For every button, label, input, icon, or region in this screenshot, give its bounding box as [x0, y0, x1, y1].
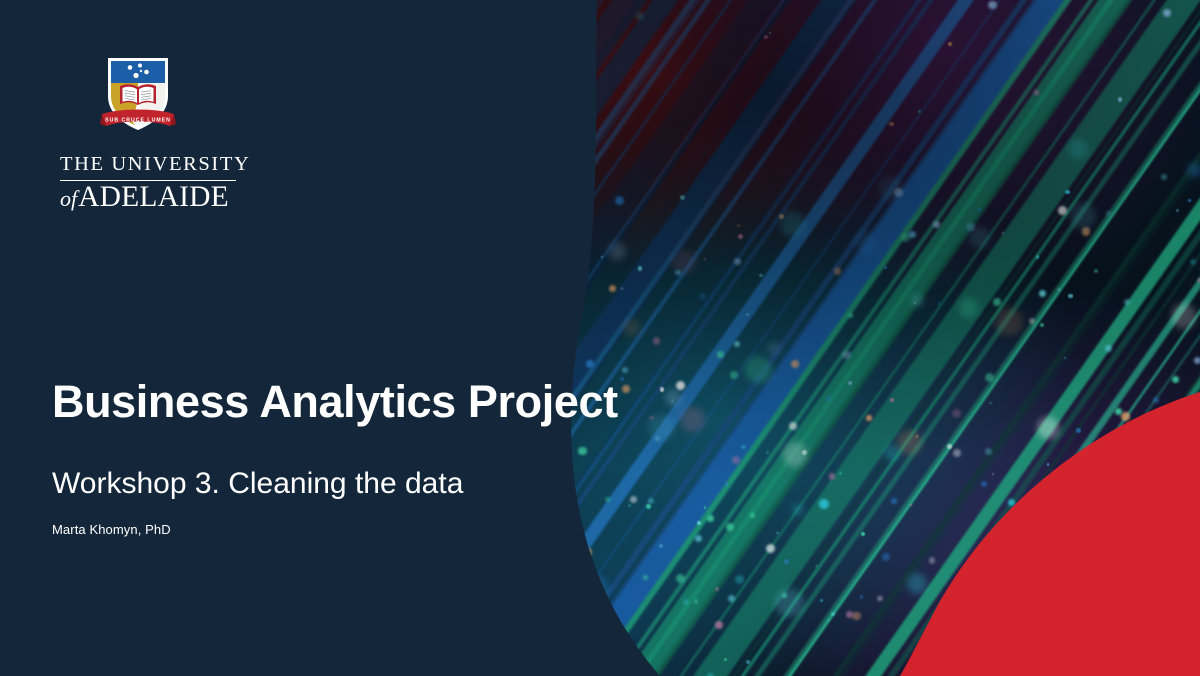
page-title: Business Analytics Project: [52, 378, 692, 425]
author-name: Marta Khomyn, PhD: [52, 522, 692, 537]
university-wordmark: THE UNIVERSITY of ADELAIDE: [60, 154, 236, 213]
crest-motto-text: SUB CRUCE LUMEN: [105, 118, 171, 124]
wordmark-line-the-university: THE UNIVERSITY: [60, 154, 236, 179]
wordmark-line-of-adelaide: of ADELAIDE: [60, 183, 236, 213]
wordmark-of-text: of: [60, 188, 77, 210]
wordmark-adelaide-text: ADELAIDE: [78, 183, 229, 213]
presentation-title-slide: SUB CRUCE LUMEN THE UNIVERSITY of ADELAI…: [0, 0, 1200, 676]
university-of-adelaide-logo: SUB CRUCE LUMEN THE UNIVERSITY of ADELAI…: [52, 52, 282, 213]
title-block: Business Analytics Project Workshop 3. C…: [52, 378, 692, 537]
page-subtitle: Workshop 3. Cleaning the data: [52, 467, 692, 500]
university-crest-icon: SUB CRUCE LUMEN: [100, 52, 176, 140]
